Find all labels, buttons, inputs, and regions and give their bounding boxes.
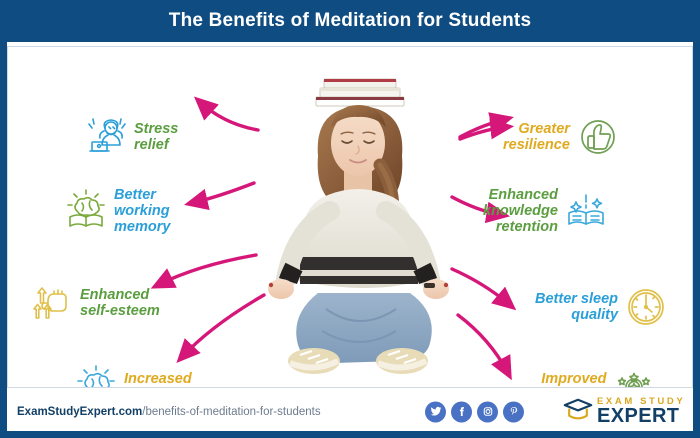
benefit-stress-relief: Stress relief [84, 115, 178, 159]
logo-wordmark: EXAM STUDY EXPERT [597, 397, 685, 427]
twitter-icon[interactable] [425, 401, 446, 422]
benefit-better-sleep-quality: Better sleep quality [535, 285, 668, 329]
article-url: ExamStudyExpert.com/benefits-of-meditati… [17, 406, 321, 418]
clock-icon [624, 285, 668, 329]
raised-fist-arrows-icon [30, 281, 74, 325]
stressed-student-laptop-icon [84, 115, 128, 159]
benefit-label: Better working memory [114, 187, 170, 236]
benefit-better-working-memory: Better working memory [64, 187, 170, 236]
open-book-sparkles-icon [564, 189, 608, 233]
social-links [425, 401, 524, 422]
header-bar: The Benefits of Meditation for Students [0, 0, 700, 42]
wristwatch-graphic [424, 283, 435, 288]
hands-star-medal-icon [612, 365, 656, 388]
meditating-student-photo [256, 61, 461, 388]
benefit-label: Enhanced self-esteem [80, 287, 160, 319]
pinterest-icon[interactable] [503, 401, 524, 422]
infographic-canvas: Stress relief Better working memory [7, 46, 693, 388]
benefit-greater-resilience: Greater resilience [503, 115, 620, 159]
benefit-label: Better sleep quality [535, 291, 618, 323]
arrow-to-attention [182, 295, 264, 357]
facebook-icon[interactable] [451, 401, 472, 422]
benefit-label: Enhanced knowledge retention [483, 187, 558, 236]
brand-logo: EXAM STUDY EXPERT [563, 397, 685, 427]
books-stack-graphic [316, 79, 404, 106]
arrow-to-resilience [460, 127, 506, 139]
right-hand-graphic [423, 279, 449, 299]
benefit-improved-mental-health: Improved mental health [513, 365, 656, 388]
benefit-label: Greater resilience [503, 121, 570, 153]
arrow-to-stress-relief [200, 102, 258, 130]
arrow-to-self-esteem [158, 255, 256, 285]
benefit-enhanced-self-esteem: Enhanced self-esteem [30, 281, 160, 325]
sweater-graphic [298, 189, 418, 288]
benefit-increased-attention: Increased attention [74, 365, 192, 388]
left-hand-graphic [268, 279, 294, 299]
thumbs-up-circle-icon [576, 115, 620, 159]
arrow-to-resilience-2 [460, 119, 506, 137]
benefit-label: Stress relief [134, 121, 178, 153]
benefit-label: Increased attention [124, 371, 192, 388]
infographic-root: The Benefits of Meditation for Students [0, 0, 700, 438]
arrow-to-memory [192, 183, 254, 203]
arrow-to-mental-health [458, 315, 508, 373]
benefit-enhanced-knowledge-retention: Enhanced knowledge retention [483, 187, 608, 236]
url-domain: ExamStudyExpert.com [17, 406, 142, 418]
url-path: /benefits-of-meditation-for-students [142, 406, 320, 418]
logo-bottom-text: EXPERT [597, 406, 685, 426]
benefit-label: Improved mental health [513, 371, 606, 388]
graduation-cap-icon [563, 397, 593, 427]
brain-book-icon [64, 189, 108, 233]
footer-bar: ExamStudyExpert.com/benefits-of-meditati… [7, 392, 693, 431]
page-title: The Benefits of Meditation for Students [169, 10, 531, 32]
brain-book-icon [74, 365, 118, 388]
instagram-icon[interactable] [477, 401, 498, 422]
